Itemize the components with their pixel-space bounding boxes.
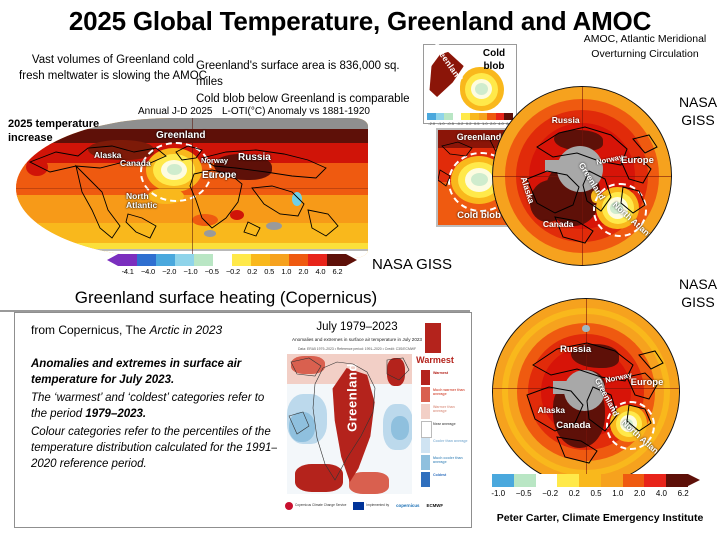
polar-top-label-europe: Europe [621, 155, 654, 166]
tick: −0.2 [222, 267, 243, 276]
map-label-north-atlantic: North Atlantic [126, 192, 150, 211]
copernicus-paragraph-3: Colour categories refer to the percentil… [31, 425, 281, 473]
legend-swatch [421, 370, 430, 385]
inset-coldblob-core [475, 83, 488, 95]
intro-text-middle: Greenland's surface area is 836,000 sq. … [196, 58, 426, 107]
tick: 6.2 [672, 489, 694, 498]
world-map-source-label: NASA GISS [372, 256, 452, 273]
tick: 2.0 [629, 489, 651, 498]
copernicus-figure-subtitle: Anomalies and extremes in surface air te… [277, 337, 437, 343]
copernicus-paragraph-2: The ‘warmest’ and ‘coldest’ categories r… [31, 391, 281, 423]
tick: -2.0 [427, 121, 436, 126]
arctic-polar-map-bottom: Russia Norway Europe Alaska Canada Green… [492, 298, 680, 486]
copernicus-figure-source: Data: ERA5 1979–2023 • Reference period:… [277, 347, 437, 351]
map-label-canada: Canada [120, 158, 151, 168]
copernicus-p2-text: The ‘warmest’ and ‘coldest’ categories r… [31, 392, 264, 420]
polar-colorbar-swatches [492, 474, 688, 487]
copernicus-paragraph-1: Anomalies and extremes in surface air te… [31, 357, 281, 389]
legend-swatch [421, 387, 430, 402]
polar-bot-source-label: NASA GISS [676, 276, 720, 311]
caption-loti-anomaly: L-OTI(°C) Anomaly vs 1881-1920 [222, 106, 370, 117]
tick: −0.5 [510, 489, 536, 498]
tick: −1.0 [180, 267, 201, 276]
logo-ecmwf-text: ECMWF [427, 504, 444, 509]
polar-top-label-russia: Russia [552, 115, 580, 125]
legend-label: Cooler than average [433, 439, 469, 443]
tick: 0.2 [244, 267, 261, 276]
caption-annual-period: Annual J-D 2025 [138, 106, 213, 117]
logo-eu: Implemented by [353, 502, 389, 510]
c3s-icon [285, 502, 293, 510]
map-label-norway: Norway [201, 156, 228, 165]
polar-bot-coastlines [493, 299, 679, 485]
polar-maps-colorbar [492, 474, 688, 487]
tick: -1.0 [486, 489, 510, 498]
colorbar-arrow-right [346, 254, 357, 266]
copernicus-legend: Warmest Much warmer than average Warmer … [421, 369, 467, 488]
copernicus-source-title: Arctic in 2023 [150, 323, 223, 337]
legend-item: Near average [421, 420, 467, 437]
tick: -0.2 [455, 121, 464, 126]
tick: −4.0 [137, 267, 158, 276]
tick: 0.2 [563, 489, 585, 498]
logo-c3s: Copernicus Climate Change Service [285, 502, 346, 510]
author-credit: Peter Carter, Climate Emergency Institut… [480, 512, 720, 524]
copernicus-p2-period: 1979–2023. [85, 408, 146, 420]
legend-swatch [421, 421, 432, 438]
colorbar-swatches [118, 254, 346, 266]
tick: -0.5 [446, 121, 455, 126]
tick: 0.2 [465, 121, 473, 126]
map-label-alaska: Alaska [94, 150, 121, 160]
legend-swatch [421, 438, 430, 453]
polar-colorbar-arrow-right [688, 474, 700, 486]
tick: 0.5 [473, 121, 481, 126]
copernicus-greenland-map: Greenland [287, 354, 412, 494]
copernicus-warmest-swatch [425, 323, 441, 353]
map-label-europe: Europe [202, 170, 236, 181]
colorbar-tick-labels: -4.1 −4.0 −2.0 −1.0 −0.5 −0.2 0.2 0.5 1.… [118, 267, 346, 276]
legend-item: Much warmer than average [421, 386, 467, 403]
polar-top-label-canada: Canada [543, 219, 574, 229]
tick: 2.0 [295, 267, 312, 276]
intro-middle-line1: Greenland's surface area is 836,000 sq. … [196, 58, 426, 91]
intro-middle-line2: Cold blob below Greenland is comparable [196, 91, 426, 107]
logo-eu-text: Implemented by [366, 504, 389, 508]
inset-coldblob-title: Cold blob [474, 48, 514, 73]
copernicus-figure-title: July 1979–2023 [277, 321, 437, 333]
tick: -1.0 [436, 121, 445, 126]
tick: −0.5 [201, 267, 222, 276]
tick: 0.5 [585, 489, 607, 498]
tick: 6.2 [329, 267, 346, 276]
legend-item: Warmest [421, 369, 467, 386]
legend-item: Cooler than average [421, 437, 467, 454]
tick: −2.0 [159, 267, 180, 276]
logo-ecmwf: ECMWF [427, 504, 444, 509]
tick: 1.0 [481, 121, 489, 126]
polar-colorbar-tick-labels: -1.0 −0.5 −0.2 0.2 0.5 1.0 2.0 4.0 6.2 [486, 489, 694, 498]
legend-item: Much cooler than average [421, 454, 467, 471]
map-label-greenland: Greenland [156, 130, 205, 141]
logo-c3s-text: Copernicus Climate Change Service [295, 504, 346, 508]
tick: 0.5 [261, 267, 278, 276]
polar-bot-label-alaska: Alaska [538, 405, 565, 415]
cop-map-coastlines [287, 354, 412, 494]
arctic-polar-map-top: Russia Norway Europe Alaska Canada Green… [492, 86, 672, 266]
inset-coldblob-title-line2: blob [474, 61, 514, 74]
polar-bot-label-canada: Canada [556, 420, 590, 431]
copernicus-logo-row: Copernicus Climate Change Service Implem… [285, 499, 465, 513]
tick: 1.0 [278, 267, 295, 276]
legend-item: Warmer than average [421, 403, 467, 420]
intro-text-left: Vast volumes of Greenland cold fresh mel… [18, 52, 208, 85]
map-label-russia: Russia [238, 152, 271, 163]
polar-bot-label-europe: Europe [631, 377, 664, 388]
copernicus-figure: July 1979–2023 Anomalies and extremes in… [277, 321, 467, 519]
logo-copernicus-text: copernicus [396, 504, 419, 509]
copernicus-source-prefix: from Copernicus, The [31, 323, 150, 337]
world-map-colorbar: -4.1 −4.0 −2.0 −1.0 −0.5 −0.2 0.2 0.5 1.… [118, 254, 346, 266]
polar-top-coastlines [493, 87, 671, 265]
copernicus-section-title: Greenland surface heating (Copernicus) [16, 288, 436, 308]
legend-swatch [421, 472, 430, 487]
tick: 4.0 [650, 489, 672, 498]
legend-label: Much cooler than average [433, 456, 469, 465]
polar-top-source-label: NASA GISS [676, 94, 720, 129]
colorbar-arrow-left [107, 254, 118, 266]
legend-swatch [421, 455, 430, 470]
tick: -4.1 [118, 267, 137, 276]
legend-item: Coldest [421, 471, 467, 488]
legend-label: Warmest [433, 371, 469, 375]
tick: 1.0 [607, 489, 629, 498]
polar-bot-label-russia: Russia [560, 344, 591, 355]
copernicus-panel: from Copernicus, The Arctic in 2023 Anom… [14, 312, 472, 528]
legend-label: Coldest [433, 473, 469, 477]
legend-label: Warmer than average [433, 405, 469, 414]
logo-copernicus: copernicus [396, 504, 419, 509]
tick: 4.0 [312, 267, 329, 276]
copernicus-source-line: from Copernicus, The Arctic in 2023 [31, 323, 222, 337]
eu-flag-icon [353, 502, 364, 510]
world-temperature-anomaly-map: Greenland Alaska Canada Norway Europe Ru… [16, 118, 368, 258]
copernicus-warmest-label: Warmest [407, 355, 463, 365]
inset-coldblob-title-line1: Cold [474, 48, 514, 61]
tick: −0.2 [537, 489, 563, 498]
legend-label: Near average [433, 422, 469, 426]
legend-label: Much warmer than average [433, 388, 469, 397]
amoc-definition-note: AMOC, Atlantic Meridional Overturning Ci… [570, 32, 720, 62]
legend-swatch [421, 404, 430, 419]
